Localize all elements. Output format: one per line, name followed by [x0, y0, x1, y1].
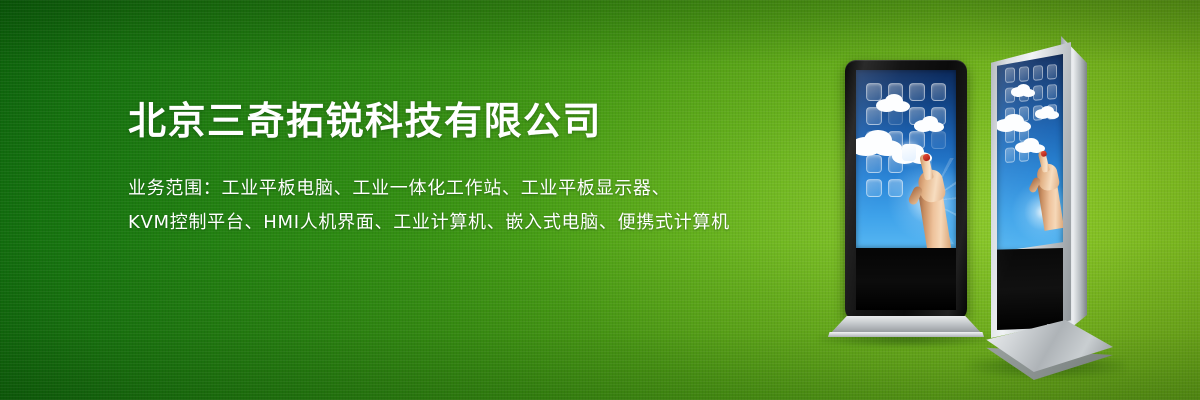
touching-hand-illustration	[1027, 146, 1060, 228]
app-icon	[1019, 66, 1029, 82]
app-icon	[909, 83, 925, 101]
app-icon	[1047, 84, 1057, 100]
app-icon	[1005, 147, 1015, 163]
cloud-icon	[876, 94, 910, 112]
cloud-icon	[1011, 84, 1035, 97]
app-icon	[1033, 65, 1043, 81]
app-icon	[888, 179, 904, 197]
kiosk-black-bezel	[845, 60, 967, 320]
kiosk-black-base-edge	[828, 332, 984, 337]
kiosk-black-lower-panel	[856, 248, 956, 310]
kiosk-silver-lower-panel	[997, 248, 1063, 330]
app-icon	[931, 131, 947, 149]
product-kiosk-silver	[985, 28, 1115, 368]
company-banner: 北京三奇拓锐科技有限公司 业务范围：工业平板电脑、工业一体化工作站、工业平板显示…	[0, 0, 1200, 400]
company-name-heading: 北京三奇拓锐科技有限公司	[128, 96, 848, 146]
banner-copy: 北京三奇拓锐科技有限公司 业务范围：工业平板电脑、工业一体化工作站、工业平板显示…	[128, 96, 848, 240]
cloud-icon	[914, 116, 944, 132]
app-icon	[1005, 67, 1015, 83]
business-scope-line-1: 业务范围：工业平板电脑、工业一体化工作站、工业平板显示器、	[128, 172, 848, 206]
product-kiosk-black	[845, 60, 967, 340]
cloud-icon	[997, 114, 1031, 132]
app-icon	[866, 155, 882, 173]
cloud-icon	[1035, 106, 1059, 119]
kiosk-silver-display-screen	[997, 54, 1063, 252]
app-icon	[931, 83, 947, 101]
kiosk-black-display-screen	[856, 70, 956, 248]
business-scope-text: 业务范围：工业平板电脑、工业一体化工作站、工业平板显示器、 KVM控制平台、HM…	[128, 172, 848, 240]
touching-hand-illustration	[906, 148, 956, 248]
app-icon	[866, 179, 882, 197]
business-scope-line-2: KVM控制平台、HMI人机界面、工业计算机、嵌入式电脑、便携式计算机	[128, 206, 848, 240]
app-icon	[1047, 64, 1057, 80]
